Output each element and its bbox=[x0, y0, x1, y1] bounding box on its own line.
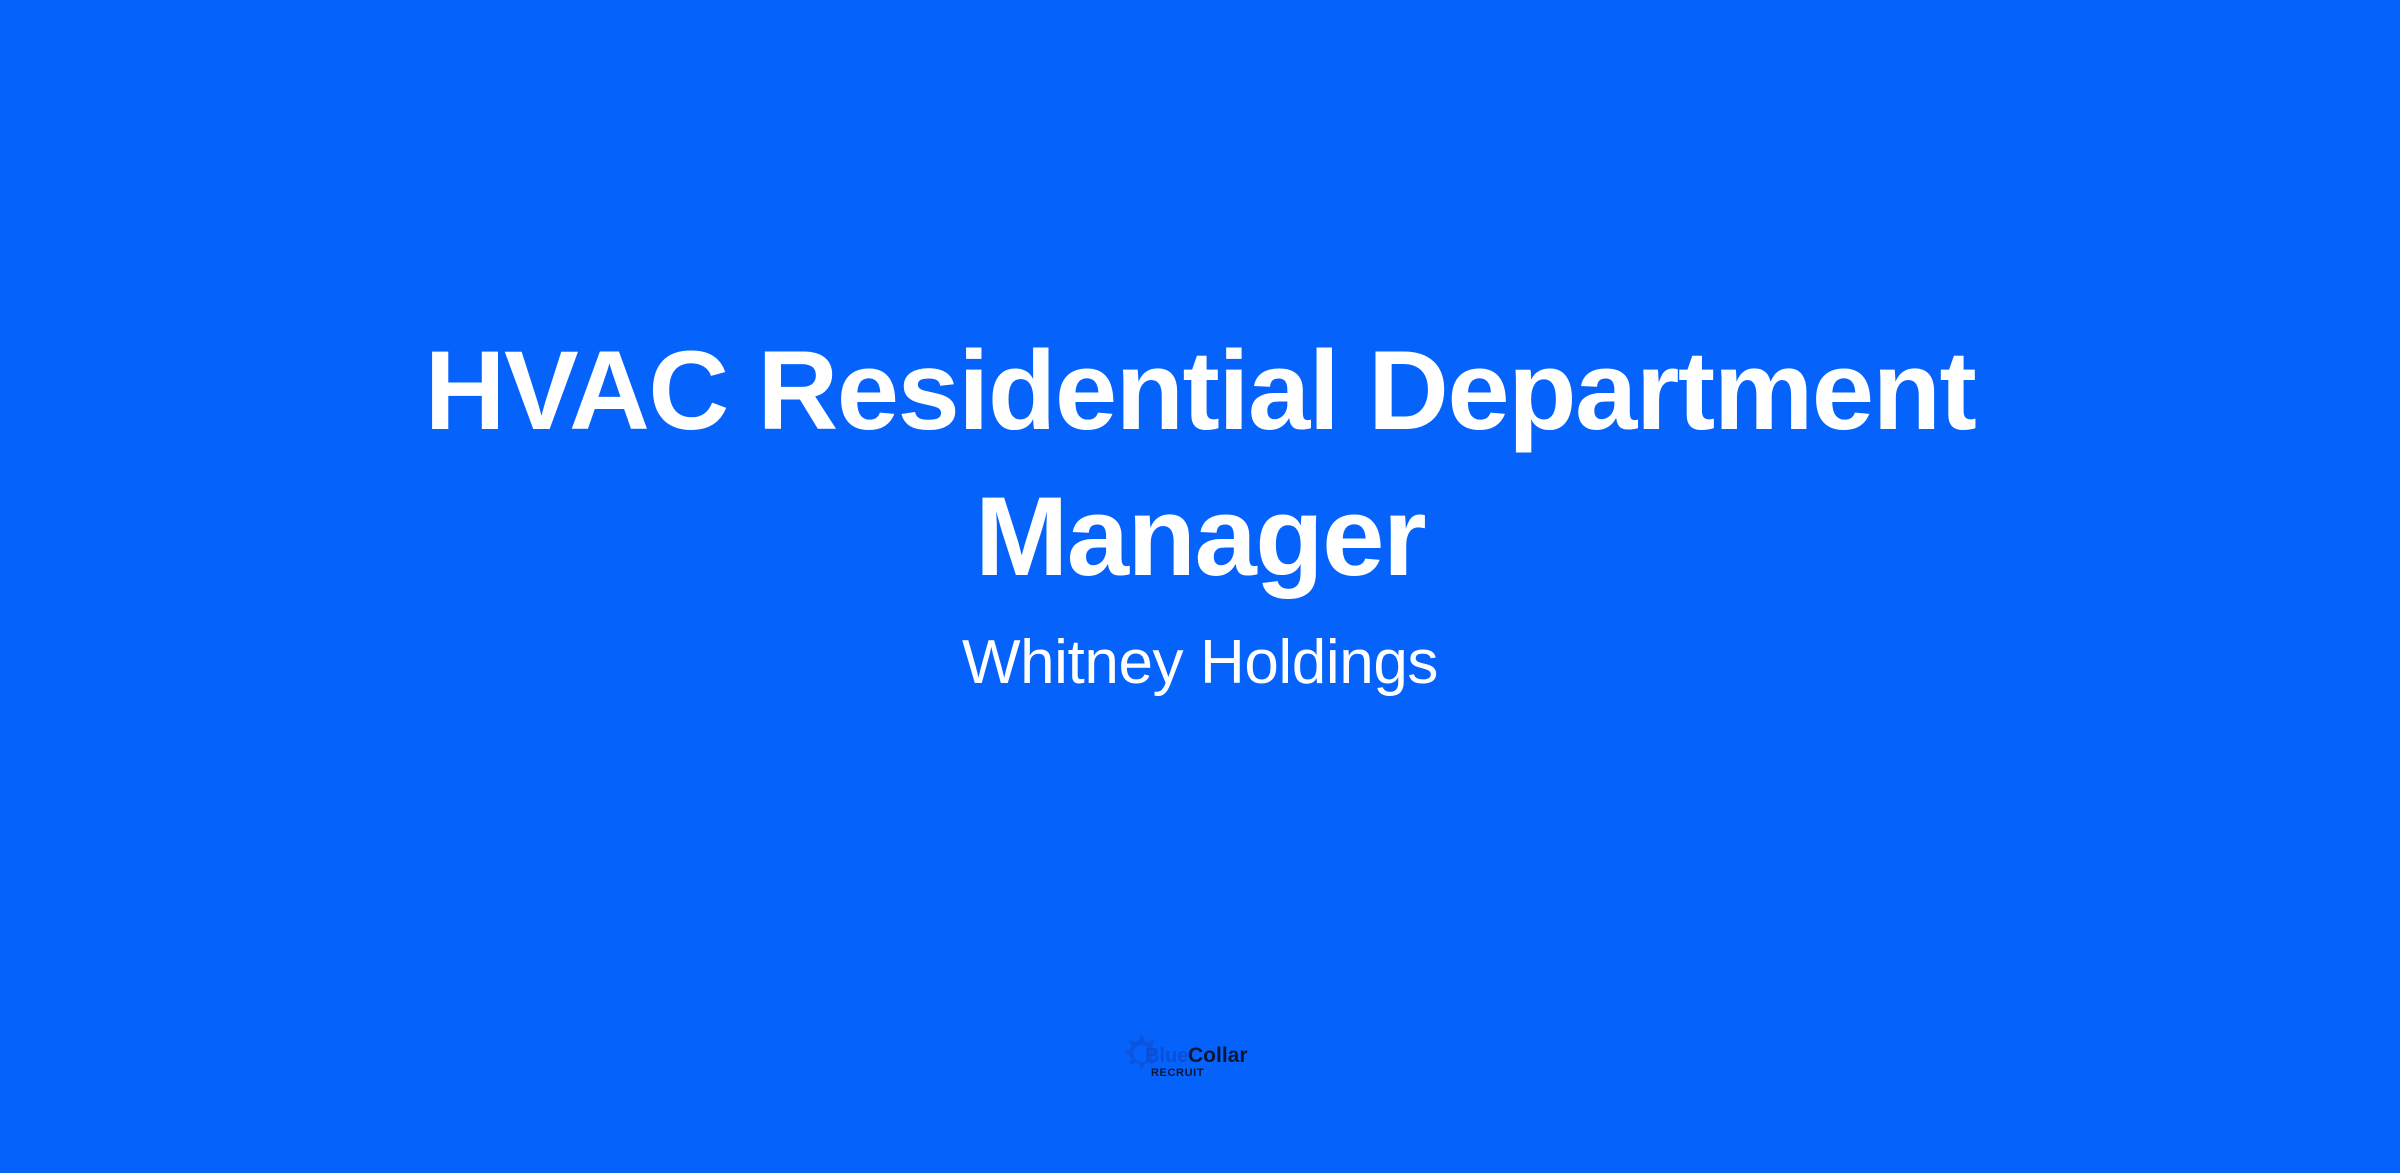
logo-tagline: RECRUIT bbox=[1151, 1067, 1204, 1079]
logo-artwork: Blue Collar RECRUIT bbox=[1115, 1030, 1285, 1086]
slide-content: HVAC Residential Department Manager Whit… bbox=[0, 0, 2400, 704]
page-title: HVAC Residential Department Manager bbox=[350, 318, 2050, 609]
blue-collar-recruit-logo: Blue Collar RECRUIT bbox=[1115, 1030, 1285, 1086]
logo-word-collar: Collar bbox=[1188, 1044, 1248, 1067]
company-name: Whitney Holdings bbox=[962, 609, 1438, 704]
job-title-slide: HVAC Residential Department Manager Whit… bbox=[0, 0, 2400, 1173]
logo-word-blue: Blue bbox=[1145, 1045, 1188, 1067]
